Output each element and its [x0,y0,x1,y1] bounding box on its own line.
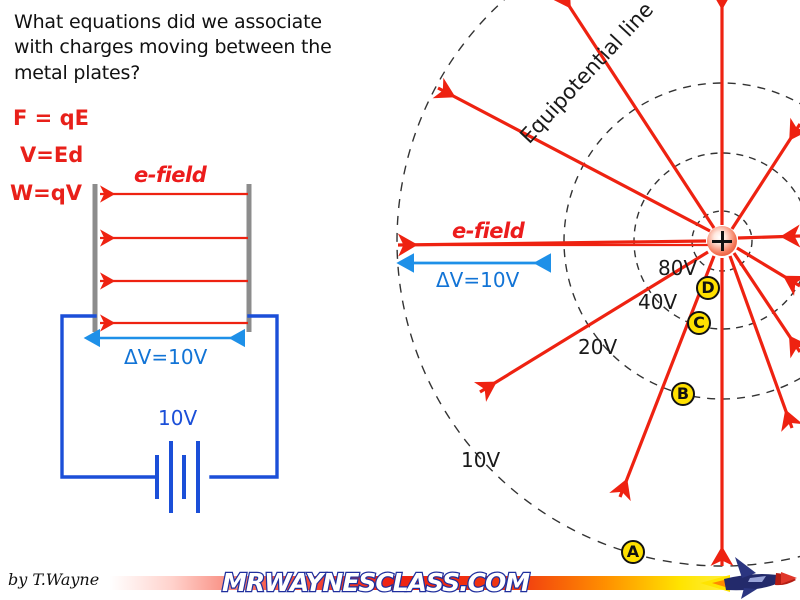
slide-canvas: What equations did we associate with cha… [0,0,800,600]
footer-rocket-layer [0,0,800,600]
delta-v-label-left: ΔV=10V [124,345,207,369]
author-credit: by T.Wayne [8,570,99,589]
radial-field-layer [0,0,800,600]
efield-label-left: e-field [134,163,206,187]
circuit-wires [62,316,277,477]
voltage-label-40v: 40V [638,290,677,314]
positive-charge-icon [707,226,737,256]
efield-label-right: e-field [452,219,524,243]
voltage-equation: V=Ed [20,143,83,167]
force-equation: F = qE [13,106,89,130]
plus-vertical-bar [721,231,724,251]
parallel-plate-diagram-layer [0,0,800,600]
capacitor-field-lines [100,194,248,323]
marker-b[interactable]: B [671,382,695,406]
marker-d[interactable]: D [696,276,720,300]
voltage-label-80v: 80V [658,256,697,280]
equipotential-line-label: Equipotential line [515,0,658,148]
voltage-label-10v: 10V [461,448,500,472]
delta-v-label-right: ΔV=10V [436,268,519,292]
marker-a[interactable]: A [621,540,645,564]
page-title: What equations did we associate with cha… [14,10,344,86]
voltage-label-20v: 20V [578,335,617,359]
battery-voltage-label: 10V [158,406,197,430]
marker-c[interactable]: C [687,311,711,335]
website-label: MRWAYNESCLASS.COM [222,568,529,597]
battery-symbol [157,441,198,513]
capacitor-plates [95,184,249,332]
work-equation: W=qV [10,181,82,205]
